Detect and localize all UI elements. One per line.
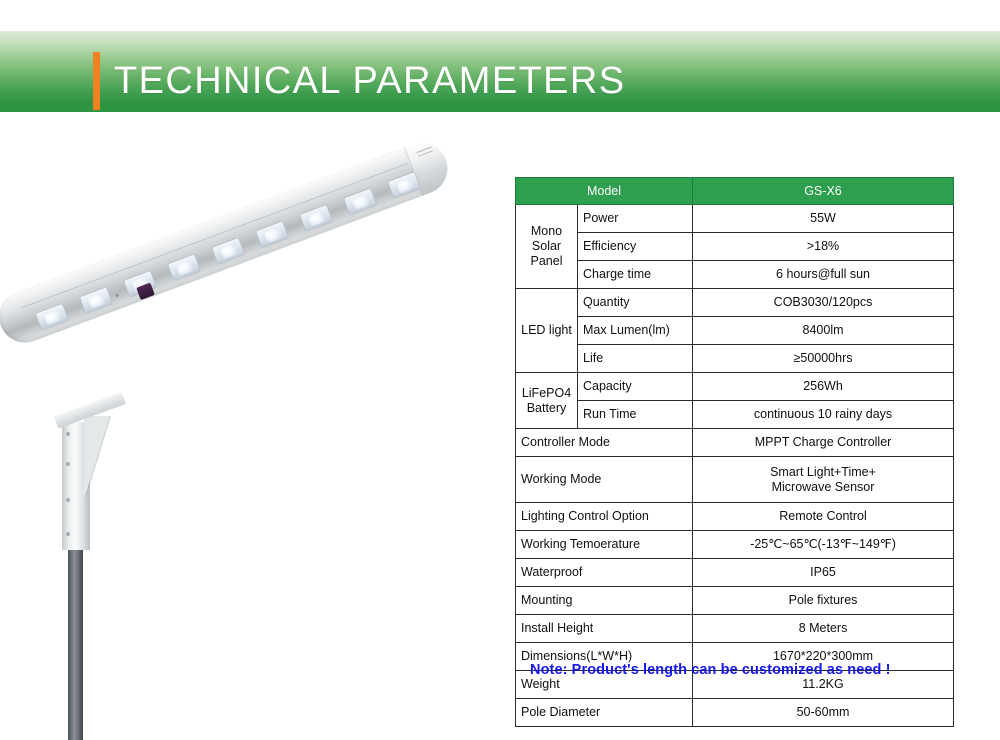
page-title: TECHNICAL PARAMETERS [114,58,626,104]
row-value: Pole fixtures [693,587,954,615]
row-value: ≥50000hrs [693,345,954,373]
table-row: LiFePO4 Battery Capacity 256Wh [516,373,954,401]
row-label: Life [578,345,693,373]
row-value: COB3030/120pcs [693,289,954,317]
led-module-strip [35,170,424,331]
light-pole [68,545,83,740]
row-value: IP65 [693,559,954,587]
row-label: Waterproof [516,559,693,587]
row-label: Run Time [578,401,693,429]
housing-seam [22,163,408,308]
group-label-battery: LiFePO4 Battery [516,373,578,429]
row-value: MPPT Charge Controller [693,429,954,457]
bracket-bolt [66,532,70,536]
header-cell-value: GS-X6 [693,178,954,205]
table-row: Working Temoerature -25℃~65℃(-13℉~149℉) [516,531,954,559]
row-label: Efficiency [578,233,693,261]
bracket-bolt [66,498,70,502]
row-label: Capacity [578,373,693,401]
group-label-solar-panel: Mono Solar Panel [516,205,578,289]
end-cap-vents [416,147,433,157]
solar-street-light-icon [0,136,452,350]
row-label: Working Mode [516,457,693,503]
table-row: Max Lumen(lm) 8400lm [516,317,954,345]
table-row: Controller Mode MPPT Charge Controller [516,429,954,457]
row-label: Pole Diameter [516,699,693,727]
group-label-led-light: LED light [516,289,578,373]
row-value: 50-60mm [693,699,954,727]
row-label: Charge time [578,261,693,289]
row-value: 8400lm [693,317,954,345]
row-value: continuous 10 rainy days [693,401,954,429]
specification-table: Model GS-X6 Mono Solar Panel Power 55W E… [515,177,953,727]
row-value: 8 Meters [693,615,954,643]
row-label: Mounting [516,587,693,615]
product-illustration: GS-X6 [0,140,500,740]
row-value: 256Wh [693,373,954,401]
table-row: LED light Quantity COB3030/120pcs [516,289,954,317]
row-label: Lighting Control Option [516,503,693,531]
row-value: 55W [693,205,954,233]
technical-parameters-page: TECHNICAL PARAMETERS [0,0,1000,740]
row-label: Max Lumen(lm) [578,317,693,345]
row-value: Smart Light+Time+ Microwave Sensor [693,457,954,503]
row-value: -25℃~65℃(-13℉~149℉) [693,531,954,559]
row-label: Working Temoerature [516,531,693,559]
bracket-bolt [66,462,70,466]
table-row: Charge time 6 hours@full sun [516,261,954,289]
table-row: Mounting Pole fixtures [516,587,954,615]
banner-accent-bar [93,52,100,110]
table-row: Working Mode Smart Light+Time+ Microwave… [516,457,954,503]
row-value: Remote Control [693,503,954,531]
table-row: Life ≥50000hrs [516,345,954,373]
bracket-bolt [66,432,70,436]
table-row: Install Height 8 Meters [516,615,954,643]
row-label: Controller Mode [516,429,693,457]
table-row: Lighting Control Option Remote Control [516,503,954,531]
row-label: Quantity [578,289,693,317]
header-cell-model: Model [516,178,693,205]
bracket-gusset [84,416,110,500]
table-row: Run Time continuous 10 rainy days [516,401,954,429]
customization-note: Note: Product's length can be customized… [530,662,891,678]
table-row: Efficiency >18% [516,233,954,261]
row-value: 6 hours@full sun [693,261,954,289]
row-label: Install Height [516,615,693,643]
table-header-row: Model GS-X6 [516,178,954,205]
row-label: Power [578,205,693,233]
table-row: Mono Solar Panel Power 55W [516,205,954,233]
table-body: Mono Solar Panel Power 55W Efficiency >1… [516,205,954,727]
table-row: Waterproof IP65 [516,559,954,587]
table-row: Pole Diameter 50-60mm [516,699,954,727]
row-value: >18% [693,233,954,261]
